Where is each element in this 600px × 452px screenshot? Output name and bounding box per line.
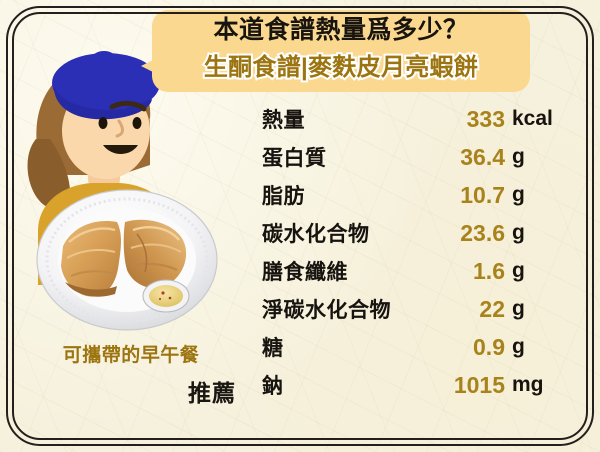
nutrient-label: 膳食纖維	[262, 256, 348, 286]
nutrient-value: 36.4	[400, 144, 505, 171]
sauce	[149, 285, 183, 307]
poster-title: 本道食譜熱量爲多少？	[152, 14, 530, 46]
nutrient-label: 脂肪	[262, 180, 305, 210]
nutrient-unit: g	[512, 145, 525, 169]
beret-nub	[91, 51, 117, 69]
nutrient-unit: g	[512, 297, 525, 321]
sauce-chili-fleck-3	[159, 298, 161, 300]
table-row: 蛋白質 36.4 g	[250, 138, 570, 176]
eye-left	[99, 117, 108, 129]
nutrient-value: 22	[400, 296, 505, 323]
nutrient-value: 333	[400, 106, 505, 133]
nutrient-unit: mg	[512, 373, 544, 397]
table-row: 糖 0.9 g	[250, 328, 570, 366]
nutrition-table: 熱量 333 kcal 蛋白質 36.4 g 脂肪 10.7 g 碳水化合物 2…	[250, 100, 570, 404]
nutrient-value: 0.9	[400, 334, 505, 361]
nutrient-label: 熱量	[262, 104, 305, 134]
nutrient-unit: g	[512, 183, 525, 207]
table-row: 脂肪 10.7 g	[250, 176, 570, 214]
nutrient-unit: g	[512, 335, 525, 359]
nutrition-infographic-poster: 本道食譜熱量爲多少？ 生酮食譜|麥麩皮月亮蝦餅 可攜帶的早午餐 推薦 熱量 33…	[0, 0, 600, 452]
caption-recommend: 推薦	[26, 374, 236, 408]
nutrient-value: 23.6	[400, 220, 505, 247]
nutrient-label: 蛋白質	[262, 142, 327, 172]
eye-right	[133, 117, 142, 129]
table-row: 淨碳水化合物 22 g	[250, 290, 570, 328]
sauce-chili-fleck-1	[161, 291, 164, 294]
nutrient-label: 鈉	[262, 370, 284, 400]
nutrient-unit: g	[512, 221, 525, 245]
nutrient-label: 糖	[262, 332, 284, 362]
nutrient-unit: kcal	[512, 107, 553, 131]
nutrient-label: 淨碳水化合物	[262, 294, 391, 324]
nutrient-value: 1015	[400, 372, 505, 399]
table-row: 碳水化合物 23.6 g	[250, 214, 570, 252]
nutrient-unit: g	[512, 259, 525, 283]
caption-portable-brunch: 可攜帶的早午餐	[26, 340, 236, 367]
table-row: 鈉 1015 mg	[250, 366, 570, 404]
nutrient-value: 10.7	[400, 182, 505, 209]
poster-subtitle: 生酮食譜|麥麩皮月亮蝦餅	[152, 52, 530, 83]
food-plate-photo	[33, 186, 221, 332]
nutrient-value: 1.6	[400, 258, 505, 285]
sauce-chili-fleck-2	[169, 297, 172, 300]
table-row: 膳食纖維 1.6 g	[250, 252, 570, 290]
nutrient-label: 碳水化合物	[262, 218, 370, 248]
table-row: 熱量 333 kcal	[250, 100, 570, 138]
